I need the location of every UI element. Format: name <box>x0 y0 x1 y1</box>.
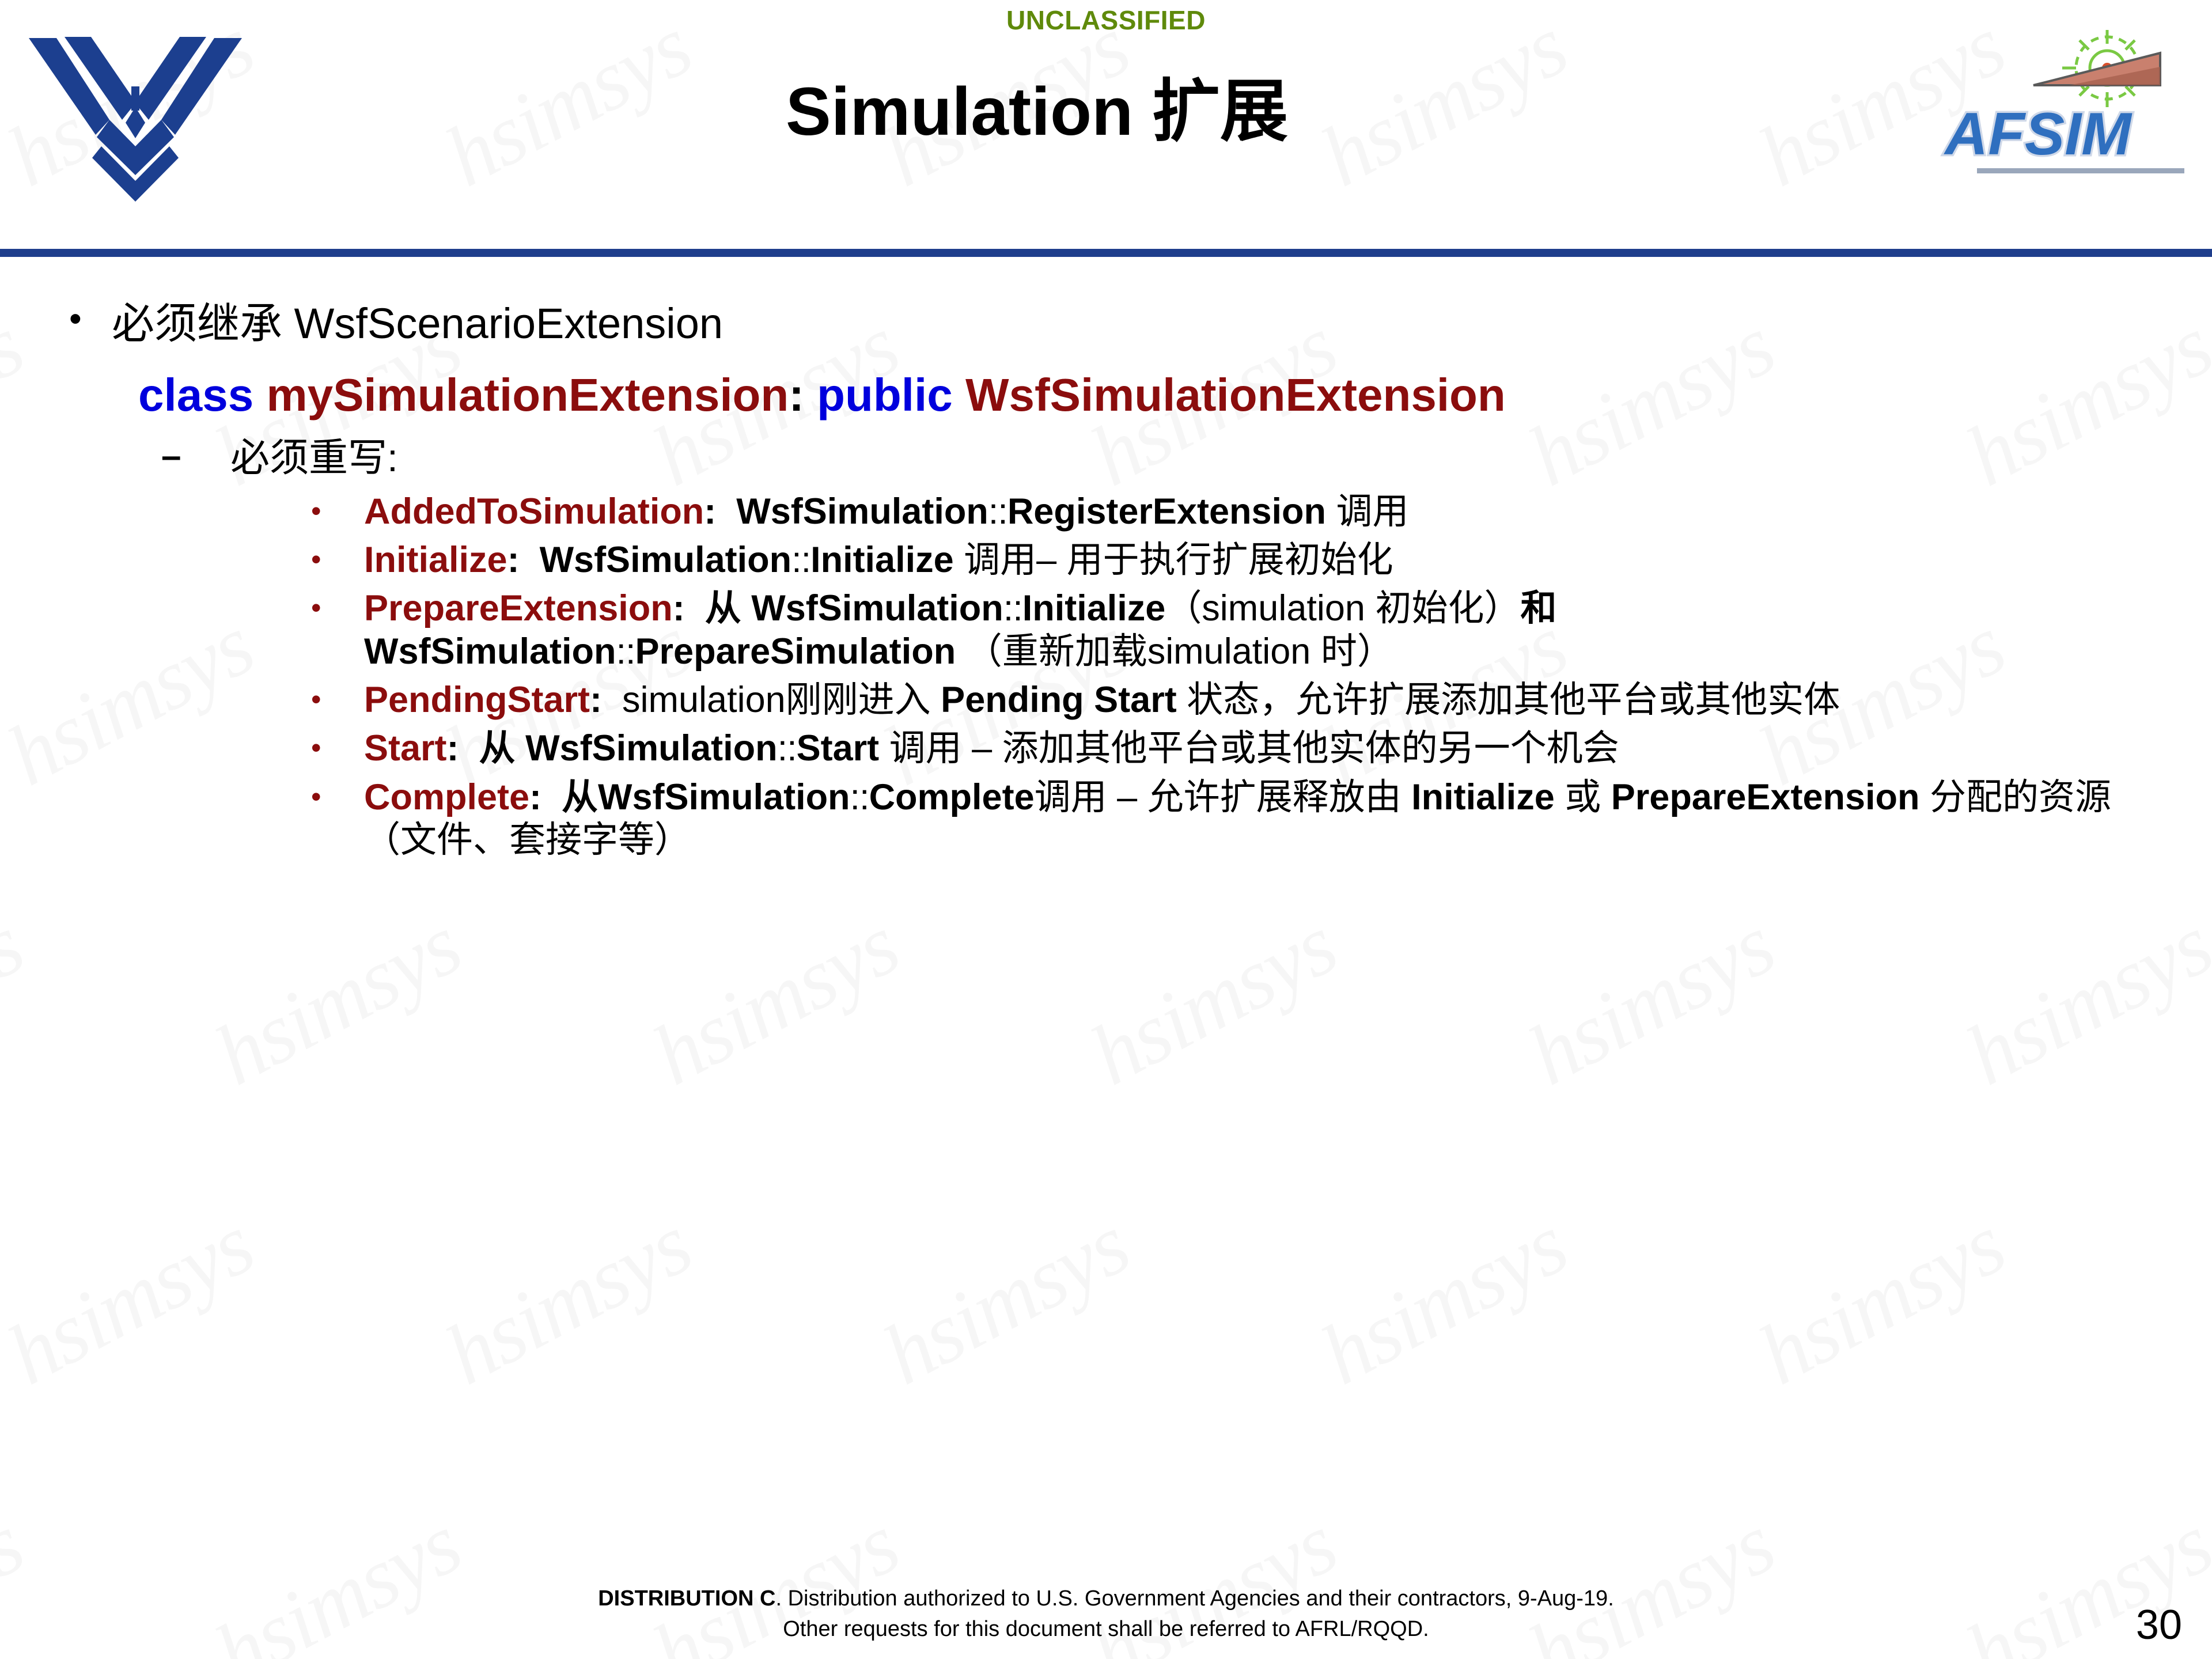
watermark-text: hsimsys <box>1075 895 1351 1105</box>
method-desc-part: WsfSimulation <box>736 491 988 532</box>
class-name: mySimulationExtension <box>266 369 789 421</box>
method-desc-part: RegisterExtension <box>1007 491 1326 532</box>
class-declaration: class mySimulationExtension: public WsfS… <box>0 369 2212 422</box>
distribution-line-1: DISTRIBUTION C. Distribution authorized … <box>0 1584 2212 1613</box>
bullet-inherit-label: 必须继承 WsfScenarioExtension <box>112 300 723 348</box>
bullet-marker: • <box>69 300 112 339</box>
method-colon: : <box>673 588 705 628</box>
method-desc-part: 从 <box>479 728 526 768</box>
bullet-must-override: – 必须重写: <box>0 435 2212 480</box>
afsim-logo: AFSIM <box>1889 23 2189 213</box>
method-bullet: •Start: 从 WsfSimulation::Start 调用 – 添加其他… <box>0 727 2212 770</box>
watermark-text: hsimsys <box>1513 895 1789 1105</box>
method-desc-part: 调用 – 添加其他平台或其他实体的另一个机会 <box>879 728 1619 768</box>
bullet-marker: • <box>311 587 364 629</box>
method-desc-part: （重新加载simulation 时） <box>956 631 1393 672</box>
usaf-wings-logo <box>23 33 248 206</box>
method-text: PendingStart: simulation刚刚进入 Pending Sta… <box>364 679 2114 721</box>
method-desc-part: 调用– 用于执行扩展初始化 <box>954 540 1393 580</box>
method-desc-part: 从 <box>705 588 752 628</box>
watermark-text: hsimsys <box>637 895 914 1105</box>
method-desc-part: Initialize <box>810 540 954 580</box>
method-desc-part: :: <box>616 631 635 672</box>
method-desc-part: :: <box>850 777 869 817</box>
method-desc-part: :: <box>778 728 797 768</box>
watermark-text: hsimsys <box>0 1195 269 1404</box>
method-desc-part: PrepareExtension <box>1611 777 1920 817</box>
method-text: AddedToSimulation: WsfSimulation::Regist… <box>364 490 2114 533</box>
method-bullet: •AddedToSimulation: WsfSimulation::Regis… <box>0 490 2212 533</box>
method-text: Complete: 从WsfSimulation::Complete调用 – 允… <box>364 776 2114 862</box>
bullet-marker: • <box>311 539 364 581</box>
method-desc-part: Initialize <box>1022 588 1166 628</box>
method-desc-part: Initialize <box>1411 777 1555 817</box>
watermark-text: hsimsys <box>1305 1195 1582 1404</box>
watermark-text: hsimsys <box>868 1195 1144 1404</box>
title-divider <box>0 249 2212 257</box>
method-colon: : <box>529 777 562 817</box>
keyword-public: public <box>817 369 953 421</box>
method-desc-part: WsfSimulation <box>525 728 778 768</box>
distribution-footer: DISTRIBUTION C. Distribution authorized … <box>0 1584 2212 1644</box>
watermark-text: hsimsys <box>1743 1195 2020 1404</box>
watermark-text: hsimsys <box>1950 895 2212 1105</box>
keyword-class: class <box>138 369 253 421</box>
base-class-name: WsfSimulationExtension <box>965 369 1506 421</box>
bullet-marker: • <box>311 776 364 818</box>
method-desc-part: 调用 <box>1326 491 1409 532</box>
method-desc-part: simulation刚刚进入 <box>622 680 941 720</box>
method-desc-part: 和 <box>1520 588 1556 628</box>
page-number: 30 <box>2136 1601 2182 1649</box>
method-name: AddedToSimulation <box>364 491 704 532</box>
method-bullet: •PrepareExtension: 从 WsfSimulation::Init… <box>0 587 2212 673</box>
method-desc-part: WsfSimulation <box>598 777 850 817</box>
method-colon: : <box>590 680 622 720</box>
method-name: PrepareExtension <box>364 588 673 628</box>
method-bullet: •PendingStart: simulation刚刚进入 Pending St… <box>0 679 2212 721</box>
method-name: Start <box>364 728 447 768</box>
method-desc-part: :: <box>988 491 1007 532</box>
method-desc-part: Pending Start <box>941 680 1177 720</box>
method-colon: : <box>447 728 479 768</box>
method-desc-part: Complete <box>869 777 1035 817</box>
method-desc-part: PrepareSimulation <box>635 631 956 672</box>
watermark-text: hsimsys <box>0 895 39 1105</box>
method-text: Initialize: WsfSimulation::Initialize 调用… <box>364 539 2114 581</box>
method-desc-part: 从 <box>562 777 598 817</box>
bullet-marker: • <box>311 490 364 532</box>
method-desc-part: :: <box>1003 588 1022 628</box>
method-desc-part: 状态，允许扩展添加其他平台或其他实体 <box>1177 680 1840 720</box>
method-desc-part: 或 <box>1555 777 1611 817</box>
watermark-text: hsimsys <box>430 1195 706 1404</box>
method-name: Complete <box>364 777 529 817</box>
slide-body: • 必须继承 WsfScenarioExtension class mySimu… <box>0 300 2212 867</box>
page-title: Simulation 扩展 <box>518 75 1555 150</box>
method-desc-part: Start <box>797 728 880 768</box>
watermark-text: hsimsys <box>199 895 476 1105</box>
classification-banner: UNCLASSIFIED <box>0 5 2212 36</box>
svg-text:AFSIM: AFSIM <box>1943 101 2133 168</box>
bullet-marker: • <box>311 679 364 721</box>
method-name: PendingStart <box>364 680 590 720</box>
method-colon: : <box>704 491 736 532</box>
declaration-colon: : <box>789 369 804 421</box>
method-desc-part: WsfSimulation <box>364 631 616 672</box>
method-text: PrepareExtension: 从 WsfSimulation::Initi… <box>364 587 2114 673</box>
method-desc-part: （simulation 初始化） <box>1165 588 1520 628</box>
method-bullet: •Initialize: WsfSimulation::Initialize 调… <box>0 539 2212 581</box>
method-desc-part: WsfSimulation <box>540 540 792 580</box>
method-name: Initialize <box>364 540 507 580</box>
method-list: •AddedToSimulation: WsfSimulation::Regis… <box>0 490 2212 862</box>
method-desc-part: WsfSimulation <box>751 588 1003 628</box>
bullet-inherit: • 必须继承 WsfScenarioExtension <box>0 300 2212 348</box>
distribution-label: DISTRIBUTION C <box>598 1586 775 1611</box>
method-text: Start: 从 WsfSimulation::Start 调用 – 添加其他平… <box>364 727 2114 770</box>
bullet-marker: • <box>311 727 364 769</box>
distribution-line-2: Other requests for this document shall b… <box>0 1614 2212 1644</box>
method-colon: : <box>507 540 540 580</box>
dash-marker: – <box>161 435 230 476</box>
method-desc-part: 调用 – 允许扩展释放由 <box>1035 777 1412 817</box>
method-bullet: •Complete: 从WsfSimulation::Complete调用 – … <box>0 776 2212 862</box>
distribution-text: . Distribution authorized to U.S. Govern… <box>775 1586 1613 1611</box>
bullet-must-override-label: 必须重写: <box>230 435 398 480</box>
method-desc-part: :: <box>791 540 810 580</box>
